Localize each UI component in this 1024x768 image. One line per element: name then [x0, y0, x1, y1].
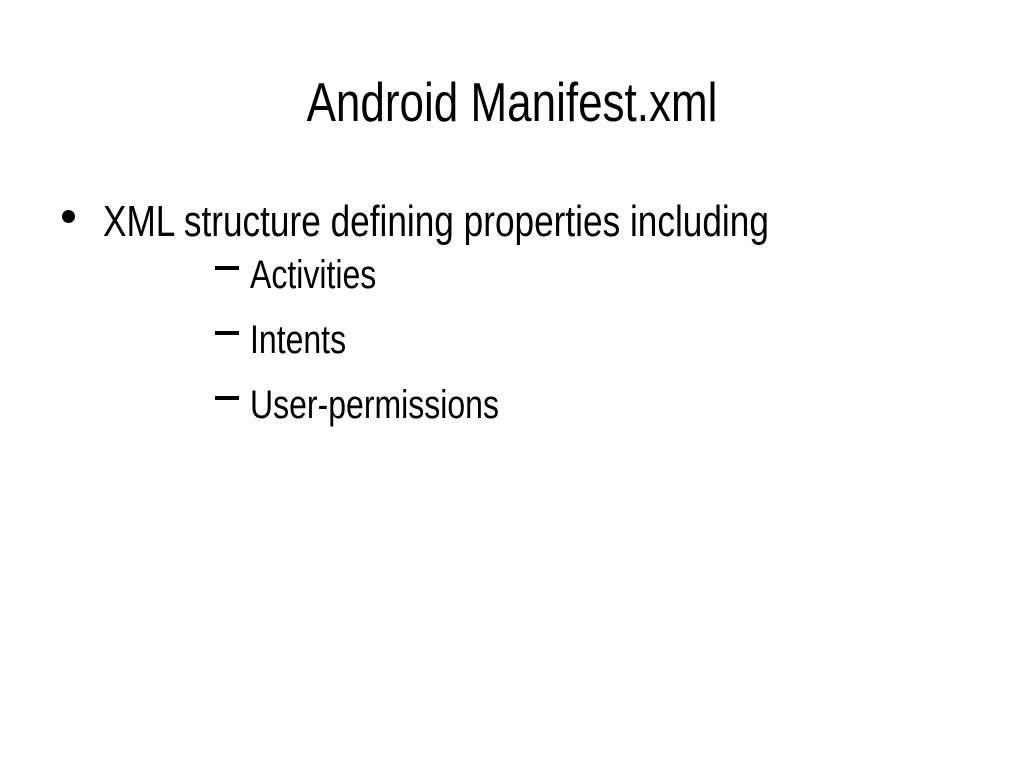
- slide-title: Android Manifest.xml: [102, 72, 921, 132]
- en-dash-bullet-icon: [215, 266, 239, 270]
- bullet-level2-label: Intents: [250, 317, 346, 363]
- presentation-slide: Android Manifest.xml XML structure defin…: [0, 0, 1024, 768]
- bullet-level1-label: XML structure defining properties includ…: [103, 196, 769, 248]
- slide-body-content: XML structure defining properties includ…: [0, 196, 1024, 447]
- bullet-level2-label: User-permissions: [250, 382, 499, 428]
- bullet-level2-item-user-permissions: User-permissions: [0, 382, 1024, 447]
- bullet-level2-label: Activities: [250, 252, 376, 298]
- bullet-level2-list: Activities Intents User-permissions: [0, 252, 1024, 447]
- bullet-level2-item-intents: Intents: [0, 317, 1024, 382]
- en-dash-bullet-icon: [215, 396, 239, 400]
- bullet-level2-item-activities: Activities: [0, 252, 1024, 317]
- bullet-level1-item: XML structure defining properties includ…: [0, 196, 1024, 252]
- en-dash-bullet-icon: [215, 331, 239, 335]
- filled-circle-bullet-icon: [62, 210, 75, 223]
